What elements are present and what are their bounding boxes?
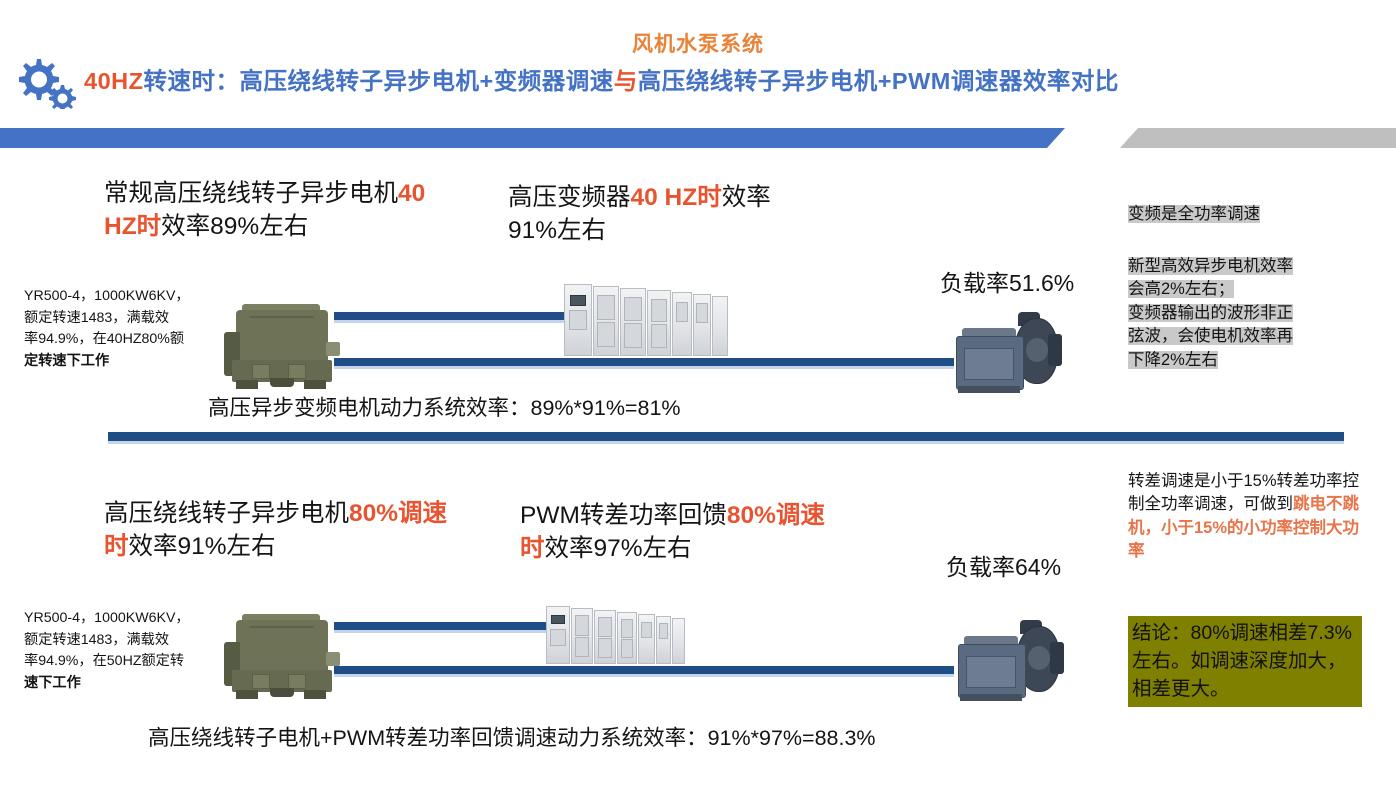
cabinet-grill [598, 638, 612, 658]
header-title-part-2: 与 [614, 68, 638, 94]
top-motor-spec: YR500-4，1000KW6KV， 额定转速1483，满载效 率94.9%，在… [24, 286, 224, 372]
motor-shaft [326, 652, 340, 666]
conclusion-box: 结论：80%调速相差7.3%左右。如调速深度加大，相差更大。 [1128, 616, 1362, 707]
cabinet-unit [647, 290, 671, 356]
top-center-heading: 高压变频器40 HZ时效率91%左右 [508, 182, 808, 247]
cabinet-grill [624, 297, 641, 321]
section-divider [108, 432, 1344, 441]
motor-icon-top [222, 294, 342, 392]
top-left-heading-c: 效率89%左右 [161, 213, 308, 240]
pump-discharge [1050, 642, 1064, 674]
cabinet-unit [672, 292, 692, 356]
cabinet-unit [617, 612, 637, 664]
slide-root: 风机水泵系统 40HZ转速时：高压绕线转子异步电机+变频器调速与高压绕线转子异步… [0, 0, 1396, 787]
bottom-center-heading-a: PWM转差功率回馈 [520, 502, 727, 529]
cabinet-grill [651, 324, 667, 348]
top-spec-line-1: 额定转速1483，满载效 [24, 308, 224, 330]
wire-motor-to-inverter-top [334, 312, 566, 320]
cabinet-grill [696, 303, 708, 323]
cabinet-unit [693, 294, 711, 356]
cabinet-grill [597, 322, 614, 347]
cabinet-grill [676, 302, 689, 323]
bottom-center-heading: PWM转差功率回馈80%调速时效率97%左右 [520, 500, 830, 565]
cabinet-unit [593, 286, 619, 356]
cabinet-hmi-panel [551, 615, 565, 624]
cabinet-grill [621, 639, 634, 658]
bottom-left-heading-b: 效率91%左右 [129, 533, 276, 560]
cabinet-grill [550, 629, 566, 646]
top-left-heading: 常规高压绕线转子异步电机40 HZ时效率89%左右 [104, 178, 434, 243]
bottom-spec-line-3-text: 速下工作 [24, 675, 81, 691]
motor-terminal-box-left [252, 364, 270, 379]
pump-foot [958, 386, 1020, 393]
cabinet-unit [656, 616, 671, 664]
bottom-spec-line-2-text: 率94.9%，在50HZ额定转 [24, 653, 184, 669]
pump-hub [1028, 646, 1050, 670]
cabinet-grill [598, 617, 612, 637]
cabinet-hmi-panel [570, 295, 587, 306]
top-left-heading-b: 机 [374, 180, 399, 207]
wire-motor-to-pump-top [334, 358, 954, 366]
note-top-2-line-3: 弦波，会使电机效率再 [1128, 327, 1293, 345]
motor-foot-right [304, 690, 326, 699]
gear-icon [14, 57, 76, 109]
cabinet-grill [575, 637, 589, 657]
note-top-2-line-4: 下降2%左右 [1128, 351, 1218, 369]
top-spec-line-3-text: 定转速下工作 [24, 353, 109, 369]
cabinet-unit [571, 608, 593, 664]
bottom-spec-line-0: YR500-4，1000KW6KV， [24, 608, 224, 630]
motor-ridge [250, 316, 314, 318]
pump-foot [960, 694, 1022, 701]
top-load-rate: 负载率51.6% [940, 264, 1074, 298]
cabinet-unit [594, 610, 616, 664]
bottom-spec-line-3: 速下工作 [24, 673, 224, 695]
pump-plate [964, 348, 1014, 380]
motor-vent [270, 378, 294, 387]
top-spec-line-2: 率94.9%，在40HZ80%额 [24, 329, 224, 351]
cabinet-grill [651, 299, 667, 323]
motor-terminal-box-right [288, 364, 306, 379]
cabinet-unit [564, 284, 592, 356]
note-bottom-slip: 转差调速是小于15%转差功率控制全功率调速，可做到跳电不跳机，小于15%的小功率… [1128, 470, 1368, 564]
bottom-load-rate: 负载率64% [946, 548, 1061, 582]
note-top-2-line-2: 变频器输出的波形非正 [1128, 304, 1293, 322]
pump-plate [966, 656, 1016, 688]
header-title-part-0: 40HZ [84, 68, 143, 94]
bottom-left-heading-a: 高压绕线转子异步电机 [104, 500, 349, 527]
wire-motor-to-pump-bottom [334, 666, 954, 674]
motor-terminal-box-left [252, 674, 270, 689]
header-accent-bar-gray [1120, 128, 1396, 148]
pump-hub [1026, 338, 1048, 362]
motor-foot-right [304, 380, 326, 389]
top-left-heading-a: 常规高压绕线转子异步电 [104, 180, 374, 207]
motor-terminal-box-right [288, 674, 306, 689]
header-title-part-1: 转速时：高压绕线转子异步电机+变频器调速 [143, 68, 613, 94]
slide-header: 风机水泵系统 40HZ转速时：高压绕线转子异步电机+变频器调速与高压绕线转子异步… [0, 0, 1396, 120]
motor-shaft [326, 342, 340, 356]
cabinet-unit [672, 618, 685, 664]
header-title-part-3: 高压绕线转子异步电机+PWM调速器效率对比 [638, 68, 1119, 94]
high-voltage-inverter-cabinet-top [564, 284, 729, 356]
cabinet-unit [620, 288, 646, 356]
cabinet-grill [659, 623, 668, 639]
pump-discharge [1048, 334, 1062, 366]
header-accent-bar-blue [0, 128, 1065, 148]
header-title: 40HZ转速时：高压绕线转子异步电机+变频器调速与高压绕线转子异步电机+PWM调… [84, 62, 1384, 96]
motor-foot-left [236, 380, 258, 389]
slurry-pump-top [952, 310, 1070, 396]
motor-ridge [250, 626, 314, 628]
wire-motor-to-pwm-bottom [334, 622, 548, 630]
cabinet-grill [624, 323, 641, 347]
note-top-2: 新型高效异步电机效率 会高2%左右； 变频器输出的波形非正 弦波，会使电机效率再… [1128, 255, 1360, 372]
bottom-summary: 高压绕线转子电机+PWM转差功率回馈调速动力系统效率：91%*97%=88.3% [148, 721, 876, 752]
note-top-1-text: 变频是全功率调速 [1128, 205, 1260, 223]
cabinet-grill [575, 615, 589, 635]
cabinet-grill [597, 295, 614, 320]
header-subtitle: 风机水泵系统 [0, 28, 1396, 58]
bottom-spec-line-1: 额定转速1483，满载效 [24, 630, 224, 652]
motor-icon-bottom [222, 604, 342, 702]
bottom-left-heading: 高压绕线转子异步电机80%调速时效率91%左右 [104, 498, 452, 563]
bottom-motor-spec: YR500-4，1000KW6KV， 额定转速1483，满载效 率94.9%，在… [24, 608, 224, 694]
cabinet-unit [638, 614, 655, 664]
cabinet-unit [546, 606, 570, 664]
bottom-spec-line-2: 率94.9%，在50HZ额定转 [24, 651, 224, 673]
top-summary: 高压异步变频电机动力系统效率：89%*91%=81% [208, 391, 681, 422]
cabinet-unit [712, 296, 728, 356]
bottom-center-heading-b: 效率97%左右 [545, 535, 692, 562]
note-top-2-line-0: 新型高效异步电机效率 [1128, 257, 1293, 275]
cabinet-grill [569, 310, 588, 330]
slurry-pump-bottom [954, 618, 1072, 704]
motor-foot-left [236, 690, 258, 699]
note-top-2-line-1: 会高2%左右； [1128, 280, 1234, 298]
top-spec-line-2-text: 率94.9%，在40HZ80%额 [24, 331, 184, 347]
top-center-heading-highlight: 40 HZ时 [631, 184, 722, 211]
top-center-heading-a: 高压变频器 [508, 184, 631, 211]
note-top-1: 变频是全功率调速 [1128, 203, 1360, 226]
cabinet-grill [641, 622, 652, 638]
top-spec-line-0: YR500-4，1000KW6KV， [24, 286, 224, 308]
top-spec-line-3: 定转速下工作 [24, 351, 224, 373]
cabinet-grill [621, 619, 634, 638]
motor-vent [270, 688, 294, 697]
pwm-slip-power-cabinet-bottom [546, 606, 686, 664]
